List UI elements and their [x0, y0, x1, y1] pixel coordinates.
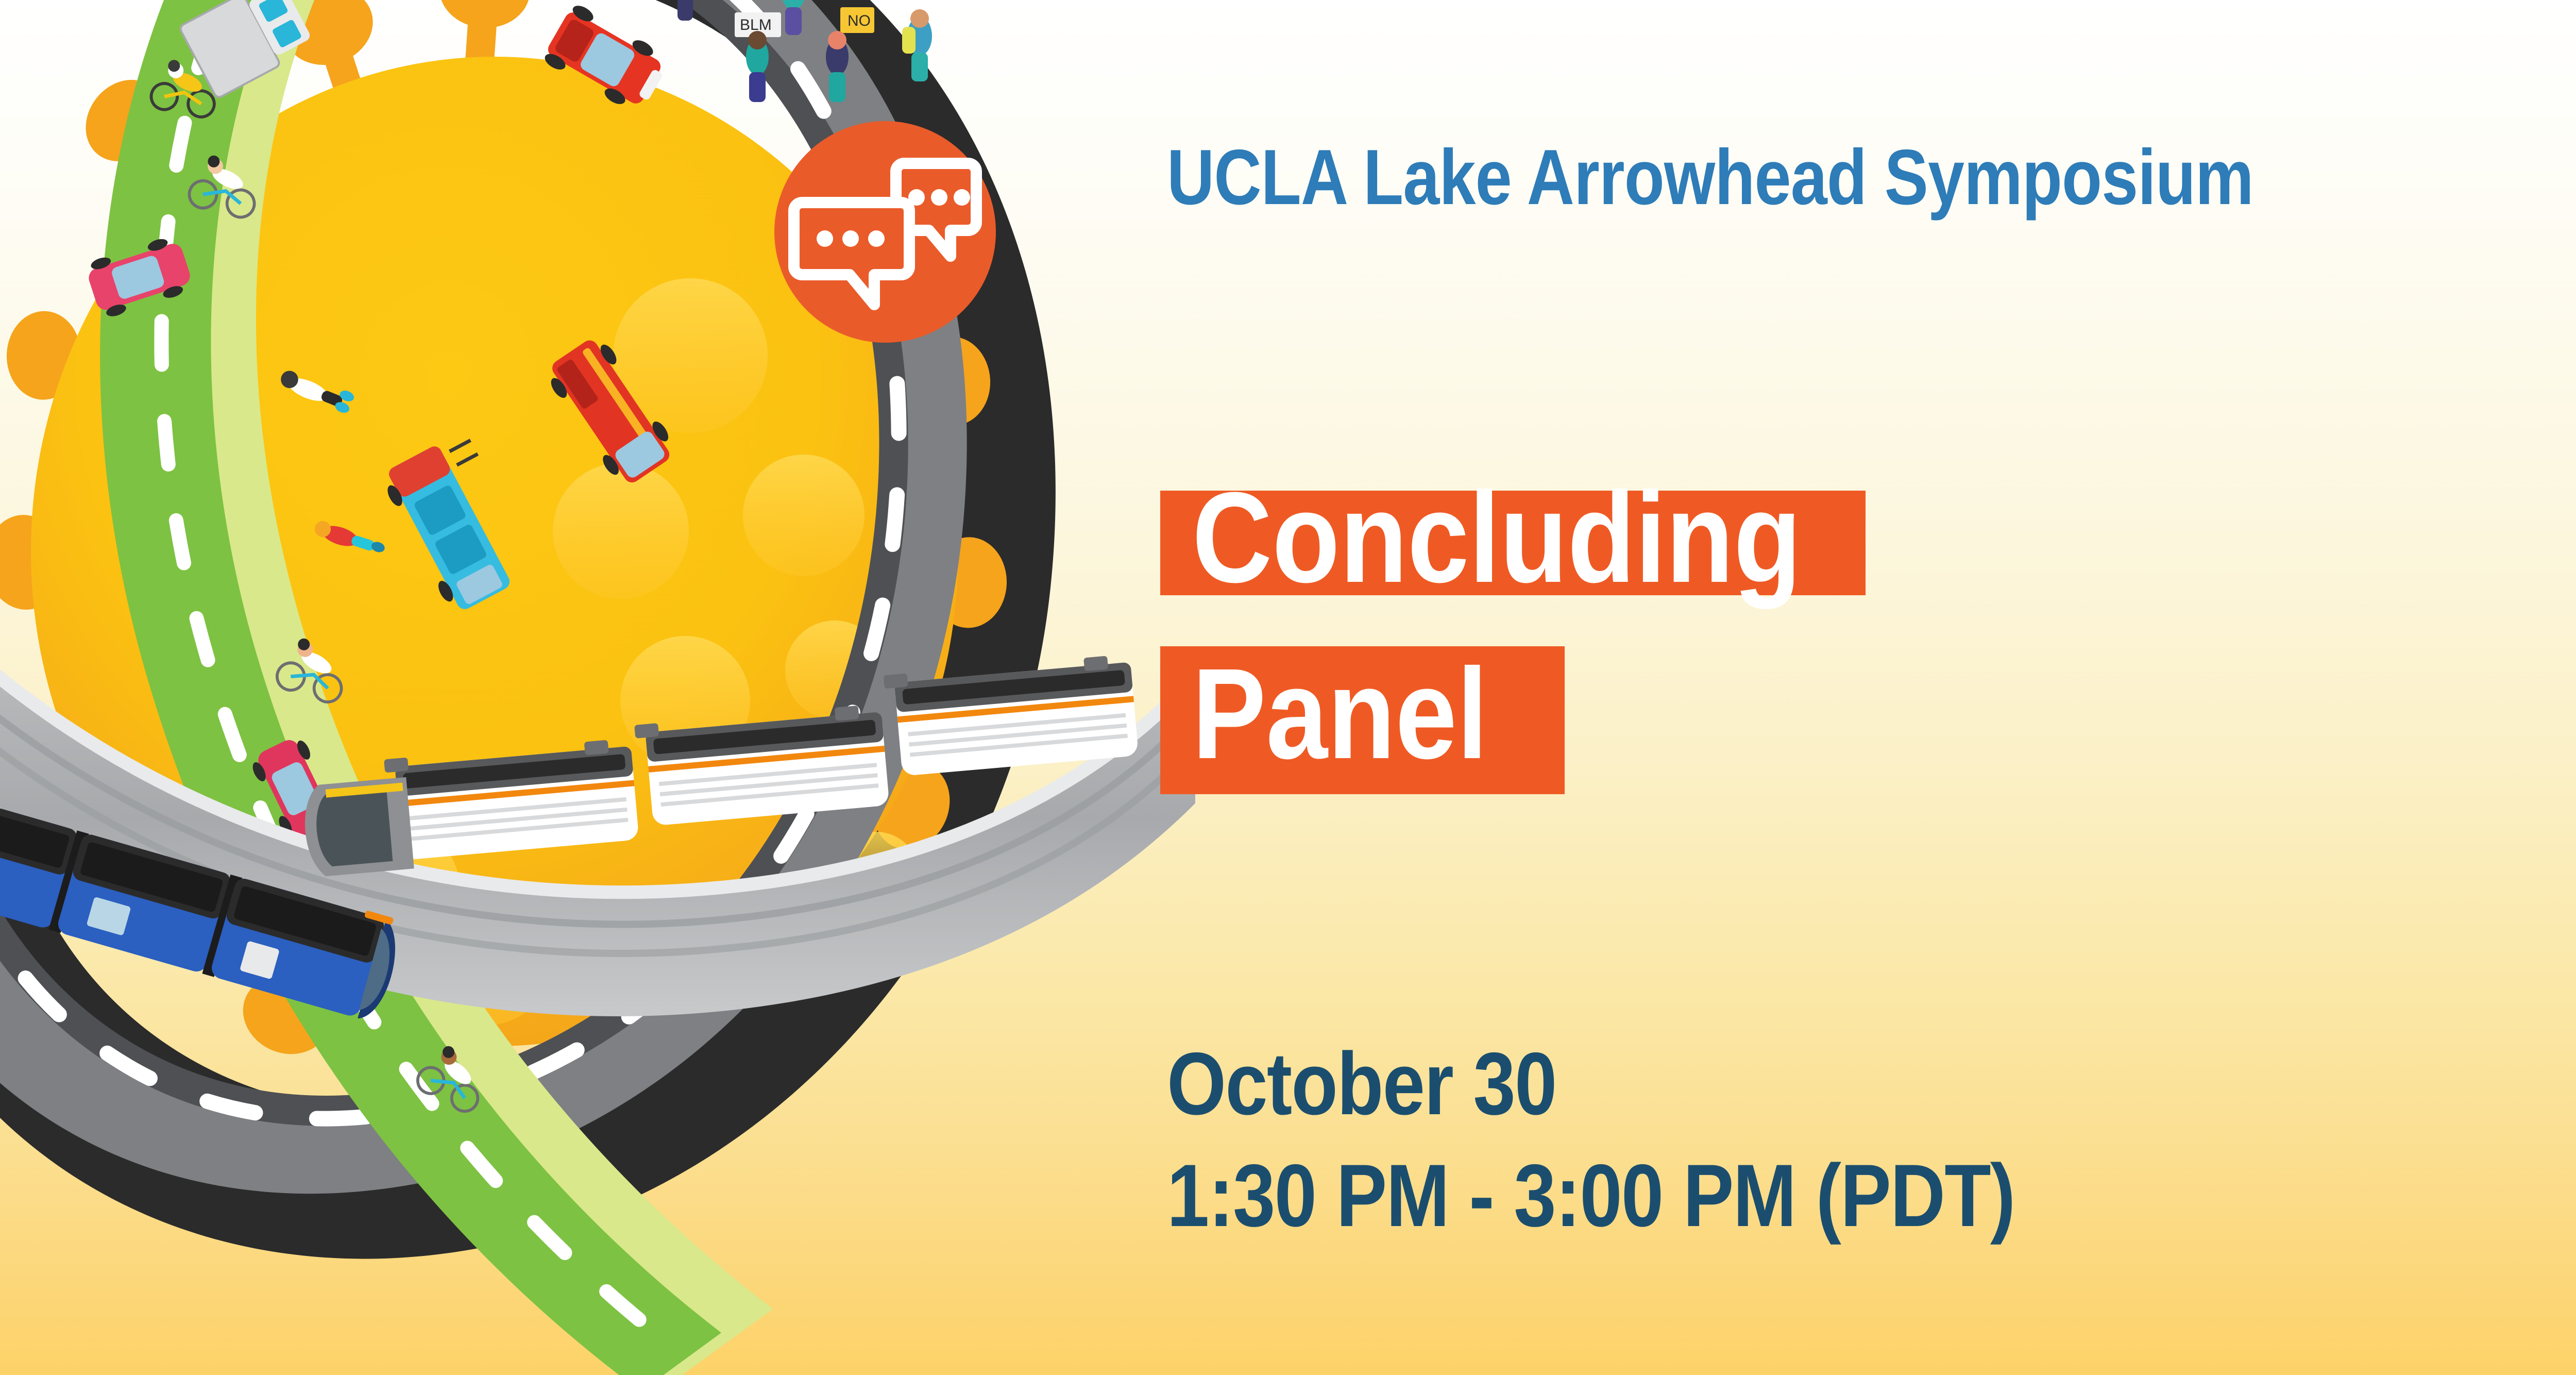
headline-box-concluding: Concluding — [1160, 491, 1866, 595]
event-text-column: UCLA Lake Arrowhead Symposium Concluding… — [1160, 0, 2576, 1375]
transit-virus-illustration: BLM NO — [0, 0, 1195, 1375]
svg-text:BLM: BLM — [740, 16, 772, 33]
illustration-canvas: BLM NO — [0, 0, 1195, 1375]
headline-box-panel: Panel — [1160, 646, 1565, 794]
svg-text:NO: NO — [848, 12, 871, 29]
headline-line-2: Panel — [1192, 649, 1488, 778]
event-datetime: October 30 1:30 PM - 3:00 PM (PDT) — [1167, 1028, 2153, 1251]
symposium-title: UCLA Lake Arrowhead Symposium — [1167, 138, 2253, 216]
event-banner: BLM NO — [0, 0, 2576, 1375]
event-date: October 30 — [1167, 1028, 2014, 1140]
speech-bubbles-badge — [774, 121, 996, 343]
headline-line-1: Concluding — [1192, 473, 1801, 602]
event-time: 1:30 PM - 3:00 PM (PDT) — [1167, 1140, 2014, 1252]
speech-bubbles-icon — [774, 121, 996, 343]
